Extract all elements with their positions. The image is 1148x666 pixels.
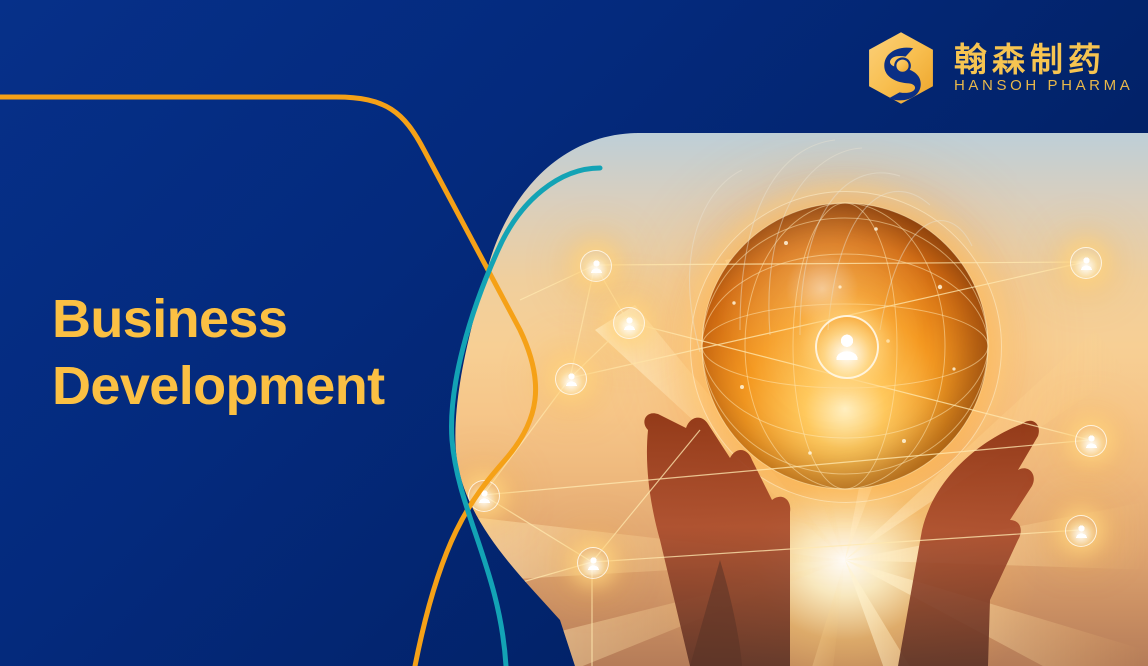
- person-icon: [478, 490, 491, 503]
- hansoh-hexagon-logo-mark: [862, 30, 940, 106]
- logo-wordmark: 翰森制药 HANSOH PHARMA: [954, 43, 1133, 93]
- node-lower-right: [1065, 515, 1097, 547]
- hansoh-logo[interactable]: 翰森制药 HANSOH PHARMA: [862, 30, 1133, 106]
- node-upper-left: [580, 250, 612, 282]
- person-icon: [1085, 435, 1098, 448]
- node-upper-right: [1070, 247, 1102, 279]
- page-title: Business Development: [52, 286, 482, 420]
- person-icon: [1075, 525, 1088, 538]
- logo-english-name: HANSOH PHARMA: [954, 78, 1133, 93]
- person-icon: [587, 557, 600, 570]
- business-development-banner: Business Development 翰森制药 HANSOH PHARMA: [0, 0, 1148, 666]
- person-icon: [834, 334, 860, 360]
- person-icon: [623, 317, 636, 330]
- node-bottom-left: [468, 480, 500, 512]
- node-globe-center: [815, 315, 879, 379]
- person-icon: [1080, 257, 1093, 270]
- node-bottom-mid: [577, 547, 609, 579]
- logo-chinese-name: 翰森制药: [954, 43, 1133, 76]
- node-mid-left: [613, 307, 645, 339]
- person-icon: [565, 373, 578, 386]
- node-mid-right: [1075, 425, 1107, 457]
- person-icon: [590, 260, 603, 273]
- node-lower-left: [555, 363, 587, 395]
